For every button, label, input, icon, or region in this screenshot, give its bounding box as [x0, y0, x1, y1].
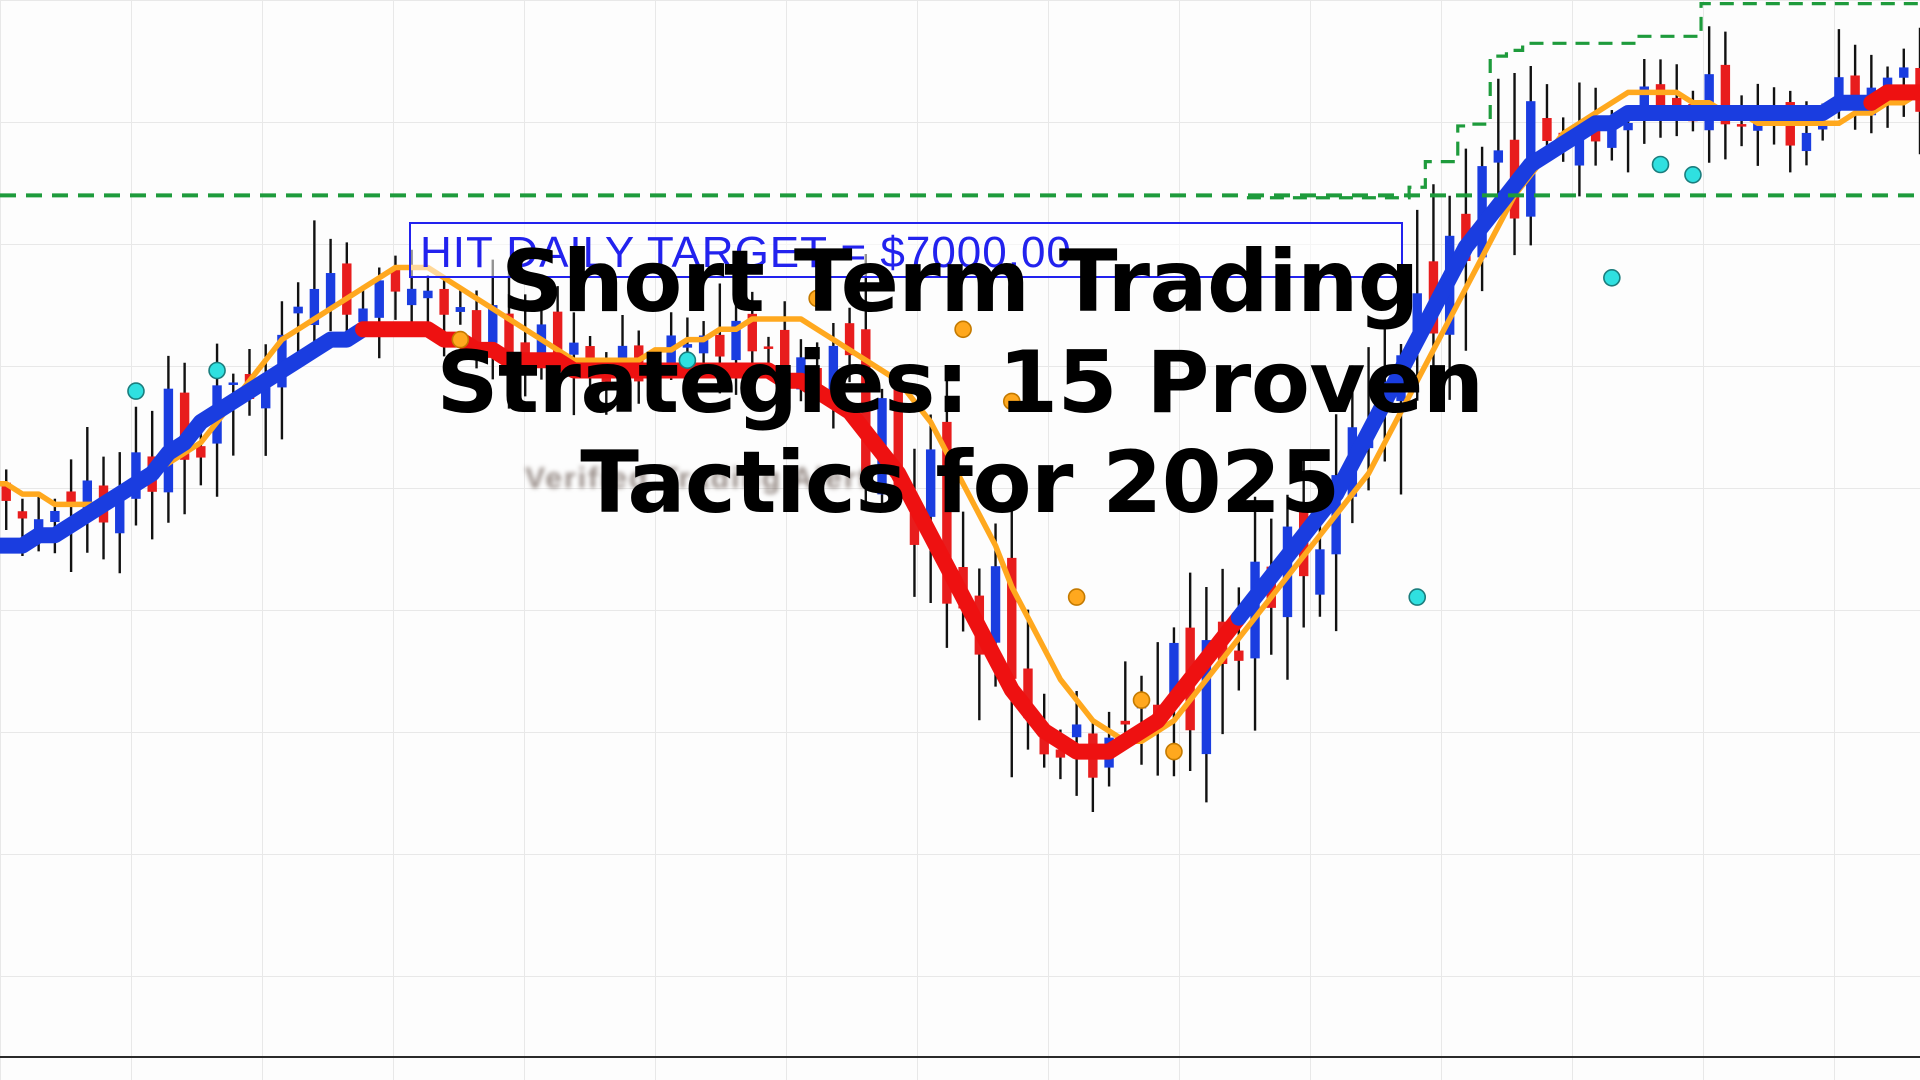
- chart-screenshot: Verified Trading Alert HIT DAILY TARGET …: [0, 0, 1920, 1080]
- price-chart: [0, 0, 1920, 1080]
- x-axis-line: [0, 1056, 1920, 1058]
- daily-target-label: HIT DAILY TARGET = $7000.00: [420, 228, 1072, 278]
- watermark-text: Verified Trading Alert: [525, 462, 1125, 502]
